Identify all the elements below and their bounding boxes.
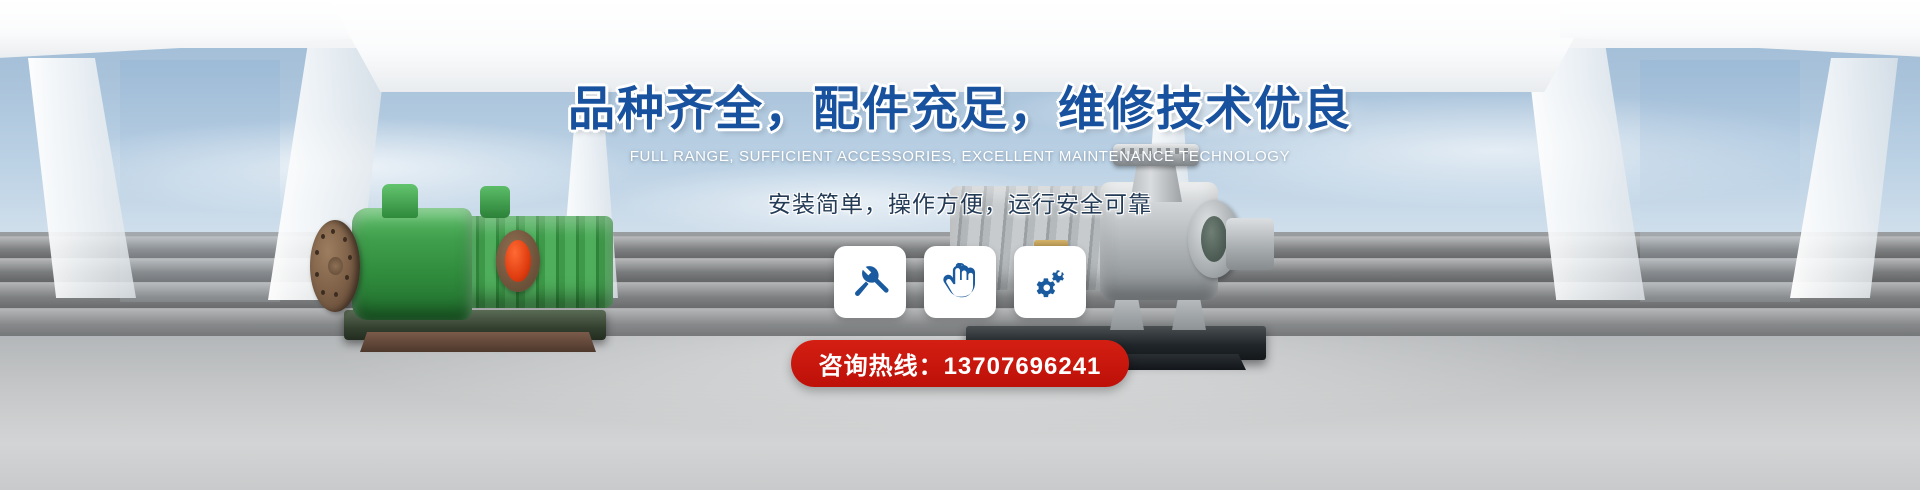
hotline-button[interactable]: 咨询热线：13707696241 <box>791 340 1130 387</box>
gears-icon <box>1031 261 1069 304</box>
promo-banner: 品种齐全，配件充足，维修技术优良 FULL RANGE, SUFFICIENT … <box>0 0 1920 490</box>
tools-icon <box>851 261 889 304</box>
banner-headline: 品种齐全，配件充足，维修技术优良 <box>568 70 1352 139</box>
banner-content: 品种齐全，配件充足，维修技术优良 FULL RANGE, SUFFICIENT … <box>0 0 1920 490</box>
banner-subtitle-chinese: 安装简单，操作方便，运行安全可靠 <box>768 185 1152 219</box>
banner-subtitle-english: FULL RANGE, SUFFICIENT ACCESSORIES, EXCE… <box>630 148 1290 165</box>
feature-icon-box-tools[interactable] <box>834 246 906 318</box>
feature-icon-row <box>834 246 1086 318</box>
feature-icon-box-gears[interactable] <box>1014 246 1086 318</box>
feature-icon-box-hand-click[interactable] <box>924 246 996 318</box>
hand-click-icon <box>941 261 979 304</box>
